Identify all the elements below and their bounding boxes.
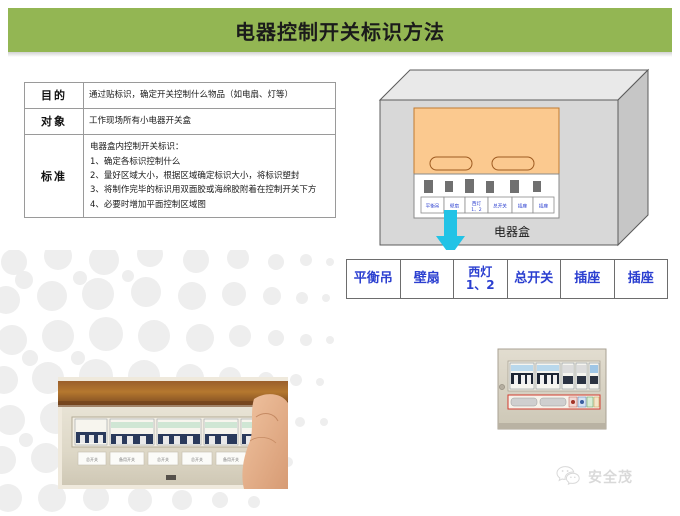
legend-cell-text: 总开关 xyxy=(514,272,553,286)
slide-title-banner: 电器控制开关标识方法 xyxy=(8,8,672,52)
box-top-face xyxy=(380,70,648,100)
banner-shadow xyxy=(8,52,672,57)
spec-row-key: 目的 xyxy=(25,83,84,109)
panel-slot xyxy=(492,157,534,170)
spec-row-key: 对象 xyxy=(25,109,84,135)
legend-cell: 插座 xyxy=(615,260,668,298)
panel-slot xyxy=(430,157,472,170)
legend-cell-text: 平衡吊 xyxy=(354,272,393,286)
distribution-box-with-hand-photo: 总开关备用开关总开关 总开关备用开关备用开关 xyxy=(58,377,288,489)
legend-cell: 插座 xyxy=(561,260,615,298)
inner-label-text: 1、2 xyxy=(471,207,482,213)
slide-canvas: 电器控制开关标识方法 目的 通过贴标识，确定开关控制什么物品（如电扇、灯等） 对… xyxy=(0,0,680,516)
inner-label-text: 西灯 xyxy=(472,200,482,207)
svg-text:备用开关: 备用开关 xyxy=(119,456,135,462)
legend-cell: 壁扇 xyxy=(401,260,455,298)
switch-block xyxy=(486,181,494,193)
spec-table: 目的 通过贴标识，确定开关控制什么物品（如电扇、灯等） 对象 工作现场所有小电器… xyxy=(24,82,336,218)
inner-label-text: 平衡吊 xyxy=(426,203,440,210)
inner-label-text: 壁扇 xyxy=(450,203,460,210)
svg-text:总开关: 总开关 xyxy=(157,456,169,462)
page-title: 电器控制开关标识方法 xyxy=(235,16,445,45)
svg-text:总开关: 总开关 xyxy=(86,456,98,462)
table-row: 对象 工作现场所有小电器开关盒 xyxy=(25,109,336,135)
label-legend-strip: 平衡吊 壁扇 西灯 1、2 总开关 插座 插座 xyxy=(346,259,668,299)
spec-line: 工作现场所有小电器开关盒 xyxy=(89,115,330,128)
spec-row-value: 工作现场所有小电器开关盒 xyxy=(84,109,336,135)
switch-block xyxy=(445,181,453,192)
legend-cell-text: 插座 xyxy=(628,272,654,286)
spec-line: 4、必要时增加平面控制区域图 xyxy=(90,198,329,212)
legend-cell-subtext: 1、2 xyxy=(466,279,495,292)
switch-block xyxy=(424,180,433,193)
table-row: 标准 电器盒内控制开关标识： 1、确定各标识控制什么 2、量好区域大小，根据区域… xyxy=(25,135,336,218)
legend-cell-text: 壁扇 xyxy=(414,272,440,286)
wechat-icon xyxy=(556,465,582,489)
spec-line: 电器盒内控制开关标识： xyxy=(90,140,329,154)
switch-block xyxy=(533,181,541,192)
legend-cell: 总开关 xyxy=(508,260,562,298)
spec-line: 1、确定各标识控制什么 xyxy=(90,155,329,169)
watermark-text: 安全茂 xyxy=(588,467,633,487)
legend-cell: 平衡吊 xyxy=(347,260,401,298)
spec-line: 通过贴标识，确定开关控制什么物品（如电扇、灯等） xyxy=(89,89,330,102)
spec-line: 2、量好区域大小，根据区域确定标识大小，将标识塑封 xyxy=(90,169,329,183)
spec-line: 3、将制作完毕的标识用双面胶或海绵胶附着在控制开关下方 xyxy=(90,183,329,197)
legend-cell: 西灯 1、2 xyxy=(454,260,508,298)
box-caption: 电器盒 xyxy=(494,224,530,239)
inner-label-text: 插座 xyxy=(539,203,549,210)
svg-text:总开关: 总开关 xyxy=(191,456,203,462)
watermark: 安全茂 xyxy=(556,462,668,492)
electrical-box-diagram: 平衡吊 壁扇 西灯 1、2 总开关 插座 插座 电器盒 xyxy=(352,60,668,250)
spec-row-key: 标准 xyxy=(25,135,84,218)
switch-block xyxy=(510,180,519,193)
labeled-distribution-box-photo xyxy=(492,345,612,437)
inner-label-text: 插座 xyxy=(518,203,528,210)
legend-cell-text: 插座 xyxy=(574,272,600,286)
spec-row-value: 电器盒内控制开关标识： 1、确定各标识控制什么 2、量好区域大小，根据区域确定标… xyxy=(84,135,336,218)
table-row: 目的 通过贴标识，确定开关控制什么物品（如电扇、灯等） xyxy=(25,83,336,109)
spec-row-value: 通过贴标识，确定开关控制什么物品（如电扇、灯等） xyxy=(84,83,336,109)
box-side-face xyxy=(618,70,648,245)
svg-text:备用开关: 备用开关 xyxy=(223,456,239,462)
switch-block xyxy=(465,179,474,193)
inner-label-text: 总开关 xyxy=(493,203,507,210)
